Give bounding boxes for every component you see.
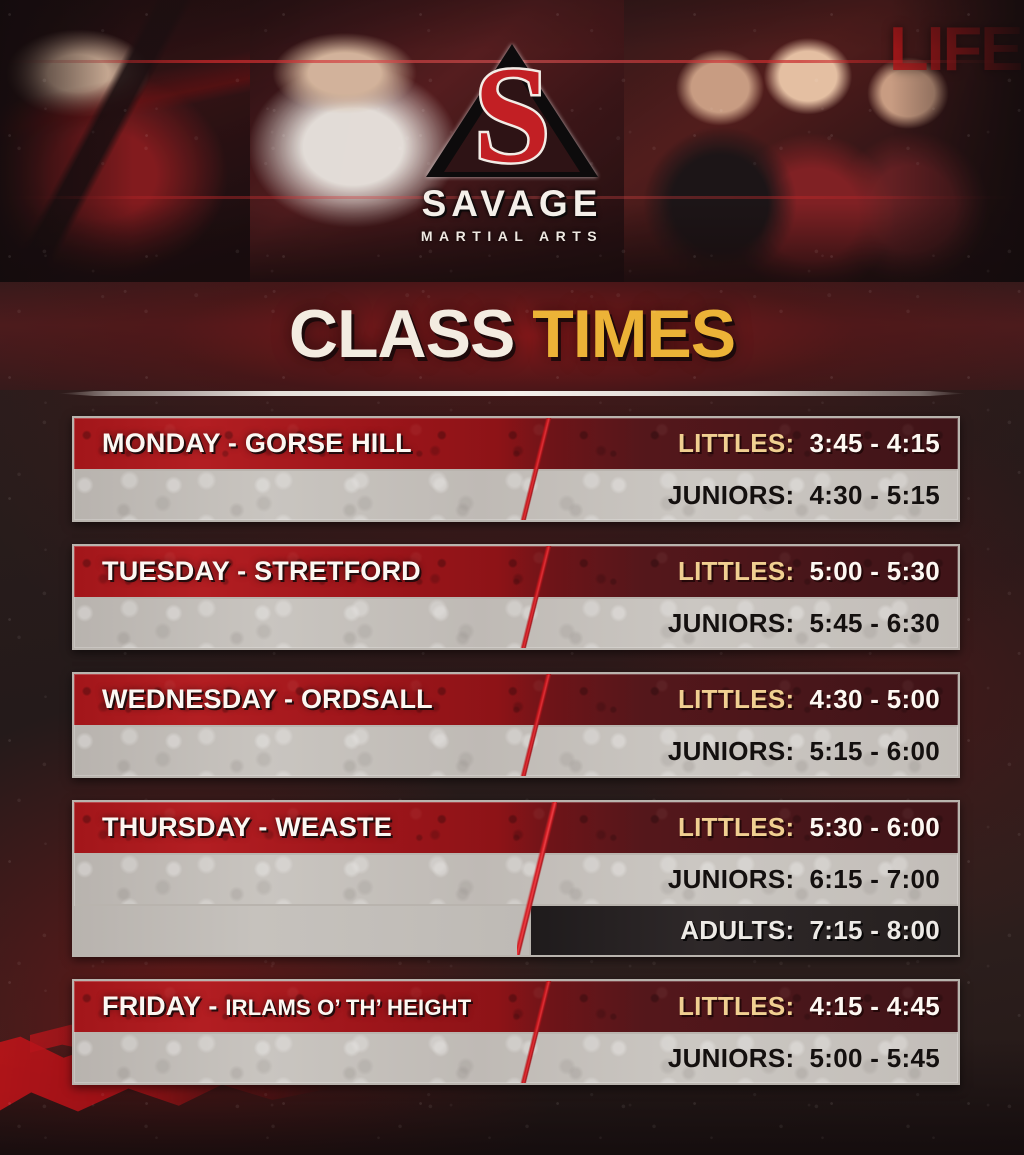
class-time-cell: JUNIORS: 5:15 - 6:00 xyxy=(529,727,958,776)
class-group-label: JUNIORS: xyxy=(668,864,795,894)
class-time-text: JUNIORS: 5:00 - 5:45 xyxy=(668,1043,940,1074)
class-time-cell: JUNIORS: 4:30 - 5:15 xyxy=(529,471,958,520)
class-group-label: JUNIORS: xyxy=(668,1043,795,1073)
class-time-text: LITTLES: 5:30 - 6:00 xyxy=(678,812,940,843)
location-name: WEASTE xyxy=(275,812,392,842)
day-location-label: THURSDAY - WEASTE xyxy=(102,812,392,843)
day-name: WEDNESDAY xyxy=(102,684,276,714)
schedule-list: MONDAY - GORSE HILLLITTLES: 3:45 - 4:15J… xyxy=(0,398,1024,1085)
class-time-cell: JUNIORS: 6:15 - 7:00 xyxy=(529,855,958,904)
class-times-poster: LIFE S SAVAGE MARTIAL ARTS CLASS TIMES M… xyxy=(0,0,1024,1155)
title-divider xyxy=(58,390,966,398)
day-cell: THURSDAY - WEASTE xyxy=(74,802,529,853)
class-row: JUNIORS: 4:30 - 5:15 xyxy=(74,469,958,520)
class-time-text: JUNIORS: 5:45 - 6:30 xyxy=(668,608,940,639)
day-cell xyxy=(74,1034,529,1083)
class-row: JUNIORS: 5:45 - 6:30 xyxy=(74,597,958,648)
class-time-text: LITTLES: 5:00 - 5:30 xyxy=(678,556,940,587)
day-location-label: WEDNESDAY - ORDSALL xyxy=(102,684,433,715)
class-group-label: JUNIORS: xyxy=(668,608,795,638)
class-time-cell: JUNIORS: 5:45 - 6:30 xyxy=(529,599,958,648)
class-time-cell: LITTLES: 3:45 - 4:15 xyxy=(529,418,958,469)
class-group-label: JUNIORS: xyxy=(668,736,795,766)
class-time-text: JUNIORS: 5:15 - 6:00 xyxy=(668,736,940,767)
class-time-text: LITTLES: 3:45 - 4:15 xyxy=(678,428,940,459)
class-time-cell: ADULTS: 7:15 - 8:00 xyxy=(529,906,958,955)
savage-martial-arts-logo: S SAVAGE MARTIAL ARTS xyxy=(397,44,627,244)
class-group-label: ADULTS: xyxy=(680,915,794,945)
day-cell: TUESDAY - STRETFORD xyxy=(74,546,529,597)
day-name: FRIDAY xyxy=(102,991,201,1021)
location-name: STRETFORD xyxy=(254,556,421,586)
class-time-text: LITTLES: 4:30 - 5:00 xyxy=(678,684,940,715)
class-time-text: LITTLES: 4:15 - 4:45 xyxy=(678,991,940,1022)
class-row: MONDAY - GORSE HILLLITTLES: 3:45 - 4:15 xyxy=(74,418,958,469)
class-group-label: LITTLES: xyxy=(678,812,795,842)
day-cell xyxy=(74,599,529,648)
class-time-range: 6:15 - 7:00 xyxy=(810,864,940,894)
class-group-label: LITTLES: xyxy=(678,684,795,714)
class-row: JUNIORS: 5:15 - 6:00 xyxy=(74,725,958,776)
class-time-cell: LITTLES: 4:15 - 4:45 xyxy=(529,981,958,1032)
logo-brand-subtitle: MARTIAL ARTS xyxy=(397,228,627,244)
class-time-cell: JUNIORS: 5:00 - 5:45 xyxy=(529,1034,958,1083)
class-time-range: 4:30 - 5:00 xyxy=(810,684,940,714)
day-block: FRIDAY - IRLAMS O’ TH’ HEIGHTLITTLES: 4:… xyxy=(72,979,960,1085)
day-block: THURSDAY - WEASTELITTLES: 5:30 - 6:00JUN… xyxy=(72,800,960,957)
class-row: JUNIORS: 6:15 - 7:00 xyxy=(74,853,958,904)
class-row: THURSDAY - WEASTELITTLES: 5:30 - 6:00 xyxy=(74,802,958,853)
day-cell: FRIDAY - IRLAMS O’ TH’ HEIGHT xyxy=(74,981,529,1032)
class-row: JUNIORS: 5:00 - 5:45 xyxy=(74,1032,958,1083)
day-name: MONDAY xyxy=(102,428,220,458)
class-row: TUESDAY - STRETFORDLITTLES: 5:00 - 5:30 xyxy=(74,546,958,597)
class-time-range: 5:00 - 5:45 xyxy=(810,1043,940,1073)
day-location-separator: - xyxy=(229,556,254,586)
day-location-label: FRIDAY - IRLAMS O’ TH’ HEIGHT xyxy=(102,991,471,1022)
class-row: WEDNESDAY - ORDSALLLITTLES: 4:30 - 5:00 xyxy=(74,674,958,725)
class-group-label: LITTLES: xyxy=(678,991,795,1021)
page-title-word-1: CLASS xyxy=(289,296,514,372)
page-title-word-2: TIMES xyxy=(532,296,735,372)
day-location-separator: - xyxy=(276,684,301,714)
day-block: TUESDAY - STRETFORDLITTLES: 5:00 - 5:30J… xyxy=(72,544,960,650)
class-time-text: JUNIORS: 4:30 - 5:15 xyxy=(668,480,940,511)
day-cell: WEDNESDAY - ORDSALL xyxy=(74,674,529,725)
class-time-cell: LITTLES: 4:30 - 5:00 xyxy=(529,674,958,725)
day-cell xyxy=(74,727,529,776)
class-row: ADULTS: 7:15 - 8:00 xyxy=(74,904,958,955)
logo-mark: S xyxy=(397,44,627,179)
class-time-range: 3:45 - 4:15 xyxy=(810,428,940,458)
class-time-cell: LITTLES: 5:30 - 6:00 xyxy=(529,802,958,853)
class-group-label: LITTLES: xyxy=(678,556,795,586)
class-time-cell: LITTLES: 5:00 - 5:30 xyxy=(529,546,958,597)
class-time-range: 5:15 - 6:00 xyxy=(810,736,940,766)
day-block: MONDAY - GORSE HILLLITTLES: 3:45 - 4:15J… xyxy=(72,416,960,522)
class-time-text: ADULTS: 7:15 - 8:00 xyxy=(680,915,940,946)
class-group-label: JUNIORS: xyxy=(668,480,795,510)
location-name: ORDSALL xyxy=(301,684,433,714)
location-name: IRLAMS O’ TH’ HEIGHT xyxy=(225,995,471,1020)
class-group-label: LITTLES: xyxy=(678,428,795,458)
logo-s-letter: S xyxy=(474,50,551,180)
day-location-separator: - xyxy=(201,991,226,1021)
day-cell: MONDAY - GORSE HILL xyxy=(74,418,529,469)
day-block: WEDNESDAY - ORDSALLLITTLES: 4:30 - 5:00J… xyxy=(72,672,960,778)
class-time-range: 5:30 - 6:00 xyxy=(810,812,940,842)
day-name: THURSDAY xyxy=(102,812,251,842)
location-name: GORSE HILL xyxy=(245,428,412,458)
day-name: TUESDAY xyxy=(102,556,229,586)
day-location-separator: - xyxy=(220,428,245,458)
class-time-range: 7:15 - 8:00 xyxy=(810,915,940,945)
day-cell xyxy=(74,906,529,955)
day-cell xyxy=(74,471,529,520)
class-time-text: JUNIORS: 6:15 - 7:00 xyxy=(668,864,940,895)
header-photo-band: LIFE S SAVAGE MARTIAL ARTS xyxy=(0,0,1024,282)
class-time-range: 5:45 - 6:30 xyxy=(810,608,940,638)
page-title: CLASS TIMES xyxy=(289,300,735,368)
day-location-separator: - xyxy=(251,812,276,842)
day-location-label: MONDAY - GORSE HILL xyxy=(102,428,412,459)
class-time-range: 4:30 - 5:15 xyxy=(810,480,940,510)
day-cell xyxy=(74,855,529,904)
page-title-zone: CLASS TIMES xyxy=(0,282,1024,390)
class-row: FRIDAY - IRLAMS O’ TH’ HEIGHTLITTLES: 4:… xyxy=(74,981,958,1032)
day-location-label: TUESDAY - STRETFORD xyxy=(102,556,421,587)
class-time-range: 4:15 - 4:45 xyxy=(810,991,940,1021)
class-time-range: 5:00 - 5:30 xyxy=(810,556,940,586)
